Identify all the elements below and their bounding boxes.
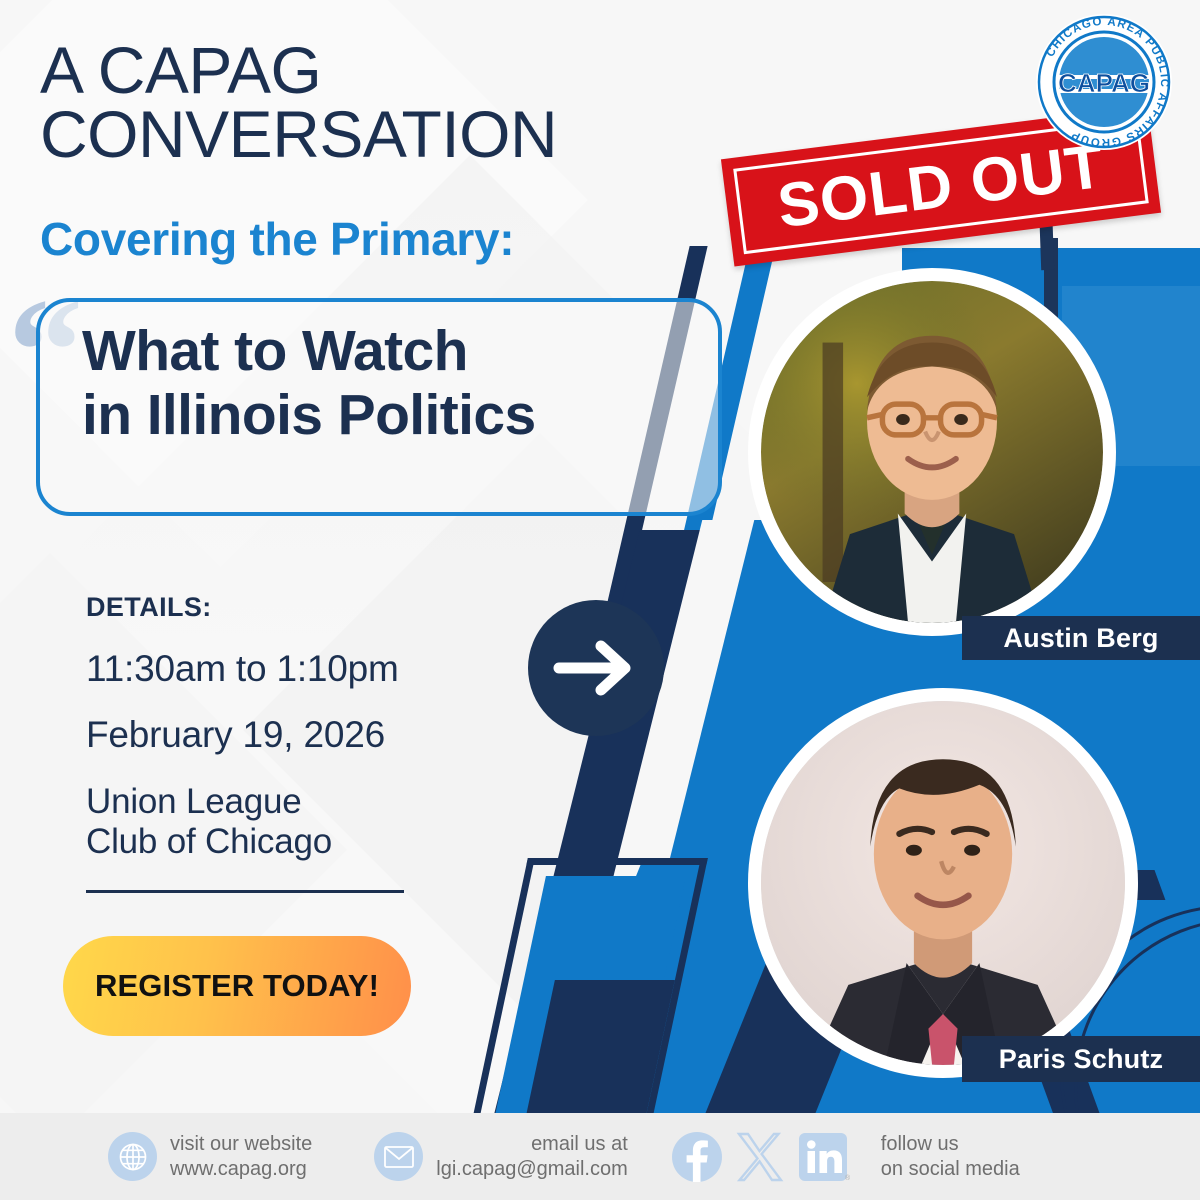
quote-line-2: in Illinois Politics bbox=[82, 384, 722, 448]
svg-text:®: ® bbox=[845, 1174, 850, 1182]
subheadline: Covering the Primary: bbox=[40, 212, 514, 266]
headline-line-1: A CAPAG bbox=[40, 38, 740, 102]
details-divider bbox=[86, 890, 404, 893]
arrow-right-icon[interactable] bbox=[528, 600, 664, 736]
footer-email[interactable]: email us at lgi.capag@gmail.com bbox=[374, 1132, 628, 1182]
facebook-icon[interactable] bbox=[670, 1130, 724, 1184]
footer-website-line2: www.capag.org bbox=[170, 1157, 312, 1182]
footer-website-text: visit our website www.capag.org bbox=[170, 1132, 312, 1182]
event-poster: A CAPAG CONVERSATION Covering the Primar… bbox=[0, 0, 1200, 1200]
envelope-icon bbox=[374, 1132, 423, 1181]
details-label: DETAILS: bbox=[86, 592, 212, 623]
speaker-photo-paris-schutz bbox=[748, 688, 1138, 1078]
footer-website[interactable]: visit our website www.capag.org bbox=[108, 1132, 312, 1182]
linkedin-icon[interactable]: ® bbox=[796, 1130, 850, 1184]
x-twitter-icon[interactable] bbox=[733, 1130, 787, 1184]
quote-line-1: What to Watch bbox=[82, 320, 722, 384]
footer: visit our website www.capag.org email us… bbox=[0, 1113, 1200, 1200]
social-icons[interactable]: ® bbox=[670, 1130, 850, 1184]
venue-line-1: Union League bbox=[86, 782, 332, 822]
details-date: February 19, 2026 bbox=[86, 714, 385, 756]
quote-text: What to Watch in Illinois Politics bbox=[82, 320, 722, 448]
footer-social-line1: follow us bbox=[881, 1133, 959, 1155]
capag-logo: CHICAGO AREA PUBLIC AFFAIRS GROUP CAPAG bbox=[1028, 6, 1180, 158]
footer-social-text: follow us on social media bbox=[881, 1132, 1020, 1182]
footer-social[interactable]: ® follow us on social media bbox=[670, 1130, 1020, 1184]
svg-text:CAPAG: CAPAG bbox=[1058, 68, 1150, 98]
footer-email-line1: email us at bbox=[531, 1133, 628, 1155]
footer-website-line1: visit our website bbox=[170, 1133, 312, 1155]
venue-line-2: Club of Chicago bbox=[86, 822, 332, 862]
speaker-photo-austin-berg bbox=[748, 268, 1116, 636]
details-time: 11:30am to 1:10pm bbox=[86, 648, 399, 690]
footer-social-line2: on social media bbox=[881, 1157, 1020, 1182]
headline-line-2: CONVERSATION bbox=[40, 102, 740, 166]
globe-icon bbox=[108, 1132, 157, 1181]
page-title: A CAPAG CONVERSATION bbox=[40, 38, 740, 166]
avatar bbox=[761, 701, 1125, 1065]
details-venue: Union League Club of Chicago bbox=[86, 782, 332, 862]
footer-email-line2: lgi.capag@gmail.com bbox=[436, 1157, 628, 1182]
avatar bbox=[761, 281, 1103, 623]
speaker-name-tag: Paris Schutz bbox=[962, 1036, 1200, 1082]
footer-email-text: email us at lgi.capag@gmail.com bbox=[436, 1132, 628, 1182]
register-button[interactable]: REGISTER TODAY! bbox=[63, 936, 411, 1036]
speaker-name-tag: Austin Berg bbox=[962, 616, 1200, 660]
